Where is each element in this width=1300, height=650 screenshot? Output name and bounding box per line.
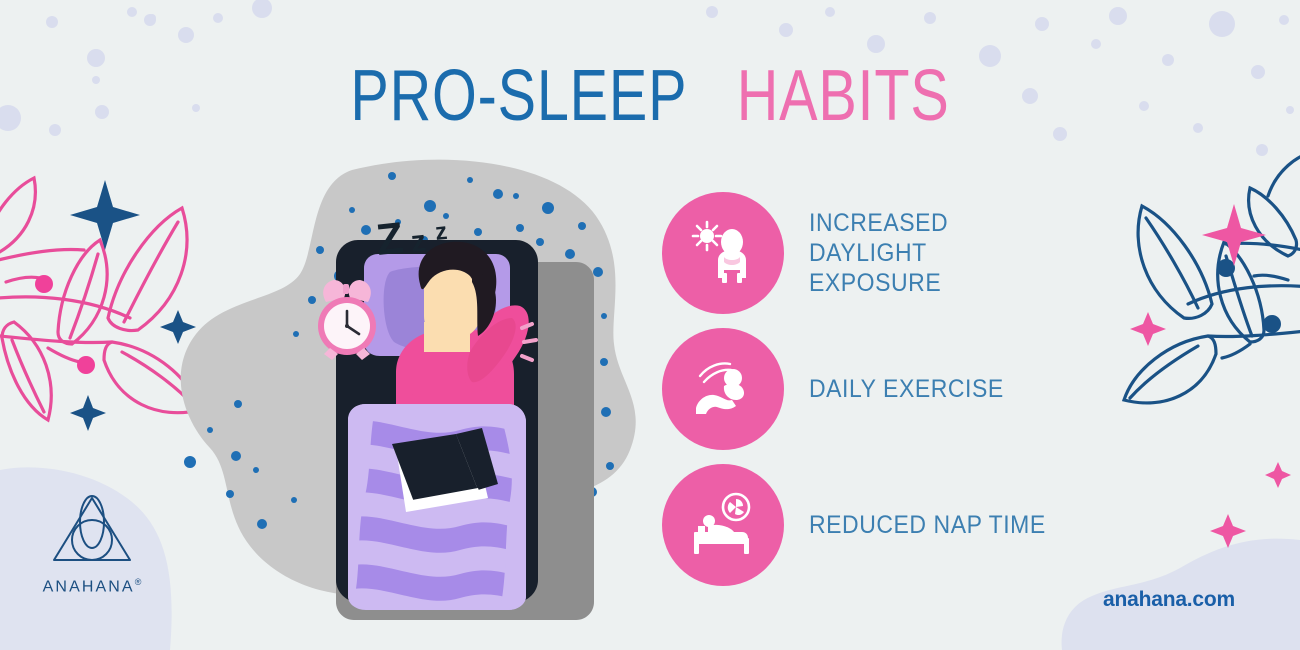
website-url[interactable]: anahana.com xyxy=(1103,588,1235,612)
sun-person-icon xyxy=(662,192,784,314)
triquetra-logo xyxy=(46,492,138,570)
habit-item-reduced-nap-time[interactable]: Reduced Nap Time xyxy=(662,464,1092,586)
trademark-symbol: ® xyxy=(135,577,142,587)
habit-list: Increased Daylight Exposure xyxy=(662,192,1092,600)
person-in-bed-clock-icon xyxy=(662,464,784,586)
habit-label: Increased Daylight Exposure xyxy=(809,208,1057,298)
habit-item-daily-exercise[interactable]: Daily Exercise xyxy=(662,328,1092,450)
brand-wordmark-text: ANAHANA xyxy=(43,578,135,595)
blanket xyxy=(340,400,545,620)
page-title-primary: PRO-SLEEP xyxy=(350,56,686,136)
page-title-accent: HABITS xyxy=(737,56,950,136)
habit-label: Reduced Nap Time xyxy=(809,510,1046,540)
habit-label: Daily Exercise xyxy=(809,374,1004,404)
habit-item-increased-daylight-exposure[interactable]: Increased Daylight Exposure xyxy=(662,192,1092,314)
sit-up-person-icon xyxy=(662,328,784,450)
brand-logo[interactable]: ANAHANA® xyxy=(22,492,162,596)
infographic-canvas: Z z z PRO-SLEEP HABITS xyxy=(0,0,1300,650)
page-title: PRO-SLEEP HABITS xyxy=(130,58,1170,134)
svg-text:Z: Z xyxy=(374,213,406,265)
brand-wordmark: ANAHANA® xyxy=(22,577,162,596)
